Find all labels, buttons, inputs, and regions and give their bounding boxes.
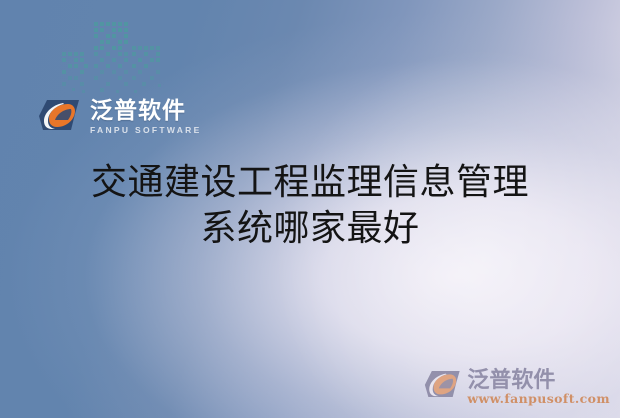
fanpu-watermark: 泛普软件 www.fanpusoft.com <box>424 369 610 406</box>
watermark-url: www.fanpusoft.com <box>467 392 610 406</box>
logo-en-name: FANPU SOFTWARE <box>90 125 202 136</box>
page-title-line-1: 交通建设工程监理信息管理 <box>0 160 620 206</box>
watermark-logo-mark-icon <box>424 369 464 404</box>
fanpu-logo-mark-icon <box>38 98 84 137</box>
pixel-city-skyline-icon <box>58 12 168 96</box>
watermark-cn-name: 泛普软件 <box>467 369 610 393</box>
logo-cn-name: 泛普软件 <box>90 98 202 124</box>
fanpu-software-logo: 泛普软件 FANPU SOFTWARE <box>38 98 202 137</box>
page-title-line-2: 系统哪家最好 <box>0 206 620 252</box>
page-title: 交通建设工程监理信息管理 系统哪家最好 <box>0 160 620 252</box>
promo-banner: 泛普软件 FANPU SOFTWARE 交通建设工程监理信息管理 系统哪家最好 … <box>0 0 620 418</box>
